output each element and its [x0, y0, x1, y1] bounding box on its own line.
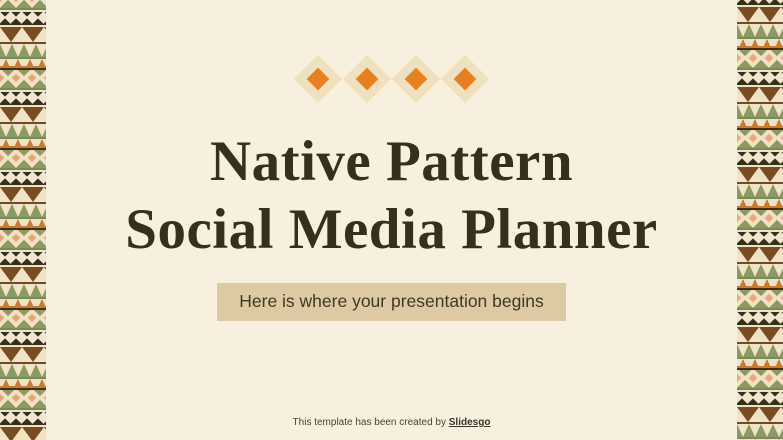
pattern-row-brown-triangles: [0, 187, 46, 202]
slidesgo-link[interactable]: Slidesgo: [449, 417, 491, 428]
pattern-row-brown-triangles: [0, 347, 46, 362]
pattern-repeat-unit: [0, 0, 46, 66]
pattern-row-green-triangles: [737, 344, 783, 357]
diamond-inner-icon: [454, 68, 477, 91]
pattern-row-olive-diamonds: [737, 130, 783, 148]
pattern-row-dark-diamonds: [0, 252, 46, 265]
pattern-strip-left: [0, 0, 46, 440]
pattern-row-brown-triangles: [737, 327, 783, 342]
diamond-inner-icon: [405, 68, 428, 91]
title-line-1: Native Pattern: [210, 130, 573, 193]
pattern-row-dark-diamonds: [737, 72, 783, 85]
pattern-row-brown-triangles: [0, 107, 46, 122]
pattern-repeat-unit: [737, 126, 783, 206]
pattern-row-dark-diamonds: [0, 332, 46, 345]
pattern-row-dark-diamonds: [737, 392, 783, 405]
pattern-repeat-unit: [737, 46, 783, 126]
pattern-row-dark-diamonds: [0, 172, 46, 185]
pattern-row-green-triangles: [737, 264, 783, 277]
pattern-row-brown-triangles: [737, 7, 783, 22]
pattern-row-green-triangles: [0, 364, 46, 377]
pattern-row-dark-diamonds: [0, 92, 46, 105]
pattern-row-dark-diamonds: [737, 232, 783, 245]
diamond-icon: [343, 55, 391, 103]
subtitle-text: Here is where your presentation begins: [217, 283, 565, 321]
pattern-row-olive-diamonds: [0, 0, 46, 8]
pattern-row-olive-diamonds: [0, 390, 46, 408]
pattern-row-brown-triangles: [737, 407, 783, 422]
presentation-slide: Native Pattern Social Media Planner Here…: [0, 0, 783, 440]
title-line-2: Social Media Planner: [46, 196, 737, 264]
pattern-row-green-triangles: [737, 184, 783, 197]
pattern-row-dark-diamonds: [0, 412, 46, 425]
pattern-repeat-unit: [0, 66, 46, 146]
pattern-row-brown-triangles: [737, 167, 783, 182]
pattern-row-olive-diamonds: [0, 70, 46, 88]
pattern-row-dark-diamonds: [0, 12, 46, 25]
pattern-row-olive-diamonds: [0, 310, 46, 328]
pattern-row-olive-diamonds: [737, 210, 783, 228]
pattern-row-green-triangles: [0, 124, 46, 137]
footer-credit: This template has been created by Slides…: [46, 417, 737, 428]
pattern-row-green-triangles: [737, 24, 783, 37]
footer-credit-prefix: This template has been created by: [293, 417, 449, 428]
pattern-row-olive-diamonds: [0, 150, 46, 168]
pattern-row-brown-triangles: [737, 247, 783, 262]
pattern-row-olive-diamonds: [737, 290, 783, 308]
pattern-row-dark-diamonds: [737, 312, 783, 325]
pattern-strip-right: [737, 0, 783, 440]
pattern-repeat-unit: [737, 366, 783, 440]
diamond-icon: [392, 55, 440, 103]
pattern-row-brown-triangles: [0, 267, 46, 282]
pattern-row-brown-triangles: [0, 427, 46, 440]
pattern-repeat-unit: [737, 206, 783, 286]
pattern-band-left: [0, 0, 46, 440]
pattern-row-green-triangles: [0, 204, 46, 217]
pattern-repeat-unit: [0, 386, 46, 440]
pattern-band-right: [737, 0, 783, 440]
subtitle-container: Here is where your presentation begins: [46, 283, 737, 321]
diamond-inner-icon: [307, 68, 330, 91]
pattern-repeat-unit: [0, 226, 46, 306]
pattern-row-green-triangles: [0, 284, 46, 297]
page-title: Native Pattern Social Media Planner: [46, 128, 737, 264]
diamond-icon: [441, 55, 489, 103]
pattern-repeat-unit: [0, 306, 46, 386]
pattern-repeat-unit: [737, 0, 783, 46]
pattern-row-brown-triangles: [0, 27, 46, 42]
pattern-row-brown-triangles: [737, 87, 783, 102]
diamond-icon: [294, 55, 342, 103]
pattern-row-green-triangles: [737, 104, 783, 117]
pattern-row-green-triangles: [737, 424, 783, 437]
pattern-row-olive-diamonds: [737, 370, 783, 388]
pattern-row-dark-diamonds: [737, 152, 783, 165]
pattern-repeat-unit: [737, 286, 783, 366]
pattern-row-olive-diamonds: [0, 230, 46, 248]
diamond-inner-icon: [356, 68, 379, 91]
slide-content: Native Pattern Social Media Planner Here…: [46, 0, 737, 440]
pattern-row-green-triangles: [0, 44, 46, 57]
pattern-row-olive-diamonds: [737, 50, 783, 68]
pattern-repeat-unit: [0, 146, 46, 226]
diamond-decoration-row: [46, 55, 737, 103]
